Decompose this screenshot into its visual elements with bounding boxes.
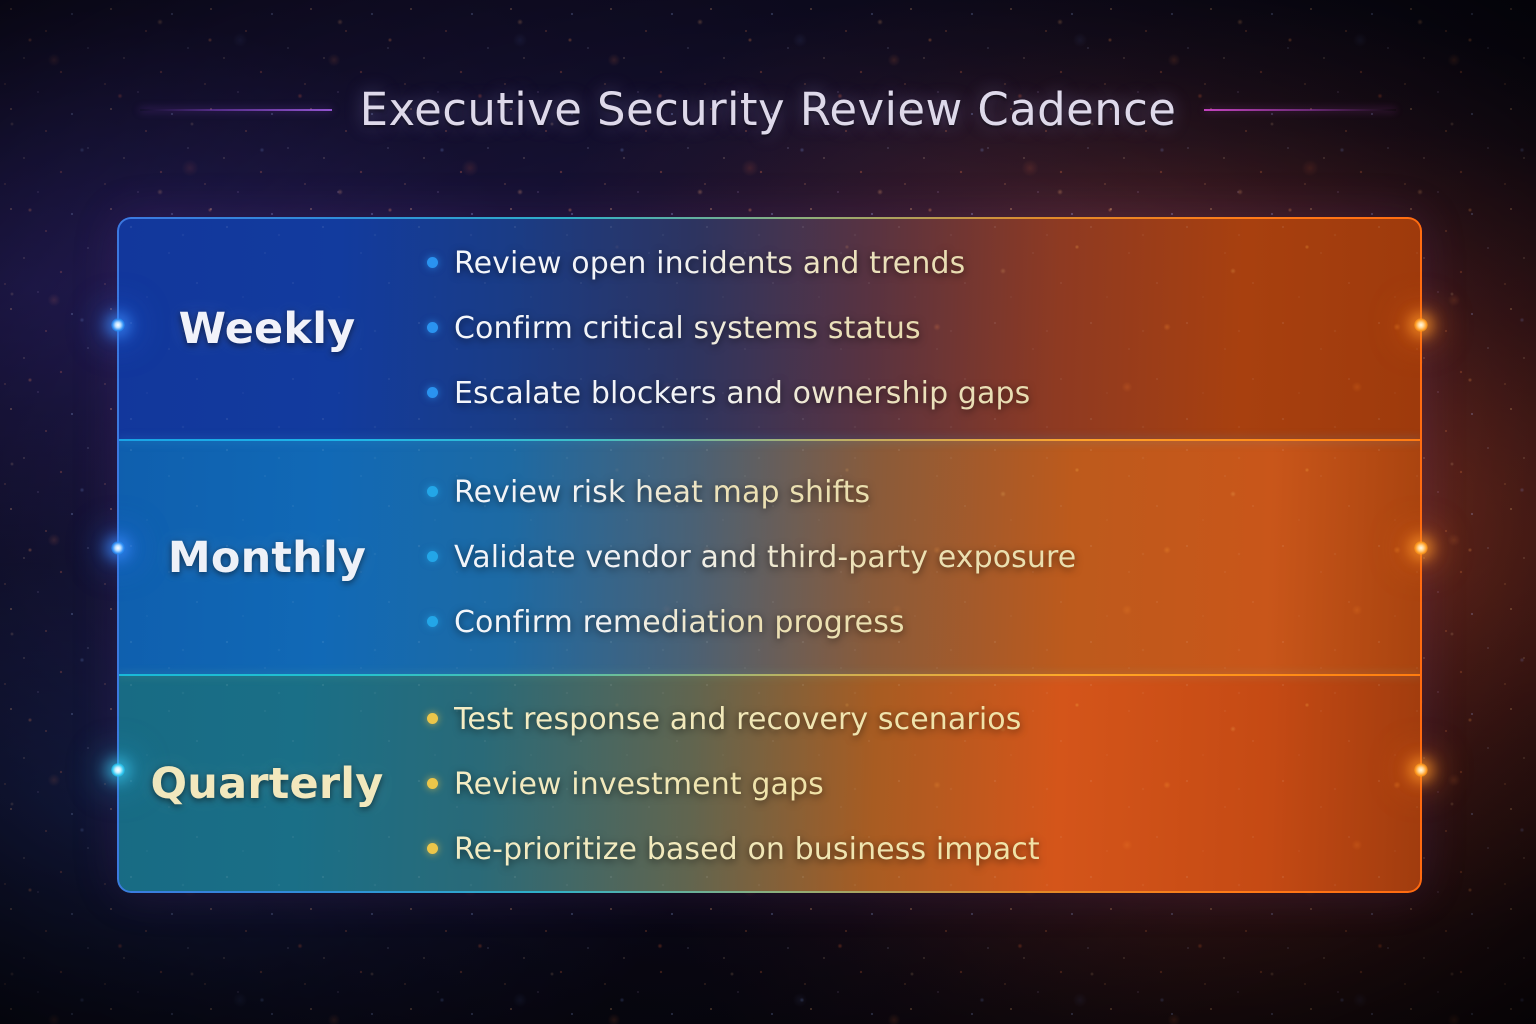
cadence-table-panel: Weekly Review open incidents and trends … [117, 217, 1422, 893]
bullet-text: Review open incidents and trends [454, 246, 965, 281]
glow-node-right-monthly [1414, 541, 1428, 555]
cadence-label-cell: Quarterly [117, 759, 427, 809]
glow-node-left-monthly [111, 541, 125, 555]
bullet-dot-icon [427, 713, 438, 724]
title-bar: Executive Security Review Cadence [0, 76, 1536, 142]
bullet-dot-icon [427, 387, 438, 398]
bullet-list-weekly: Review open incidents and trends Confirm… [427, 246, 1422, 411]
bullet-list-quarterly: Test response and recovery scenarios Rev… [427, 702, 1422, 867]
bullet-dot-icon [427, 778, 438, 789]
list-item[interactable]: Review open incidents and trends [427, 246, 1382, 281]
list-item[interactable]: Escalate blockers and ownership gaps [427, 376, 1382, 411]
page-title: Executive Security Review Cadence [360, 83, 1177, 136]
cadence-label-weekly: Weekly [179, 304, 356, 354]
glow-node-right-quarterly [1414, 763, 1428, 777]
bullet-text: Confirm remediation progress [454, 605, 905, 640]
bullet-dot-icon [427, 322, 438, 333]
list-item[interactable]: Review risk heat map shifts [427, 475, 1382, 510]
list-item[interactable]: Review investment gaps [427, 767, 1382, 802]
glow-node-right-weekly [1414, 318, 1428, 332]
bullet-text: Re-prioritize based on business impact [454, 832, 1040, 867]
cadence-row-weekly[interactable]: Weekly Review open incidents and trends … [117, 217, 1422, 440]
cadence-row-quarterly[interactable]: Quarterly Test response and recovery sce… [117, 675, 1422, 893]
bullet-text: Review investment gaps [454, 767, 824, 802]
glow-node-left-quarterly [111, 763, 125, 777]
bullet-dot-icon [427, 257, 438, 268]
cadence-label-cell: Monthly [117, 533, 427, 583]
bullet-text: Test response and recovery scenarios [454, 702, 1021, 737]
cadence-label-cell: Weekly [117, 304, 427, 354]
slide-canvas: Executive Security Review Cadence Weekly… [0, 0, 1536, 1024]
row-divider-weekly-monthly [117, 439, 1422, 441]
cadence-row-monthly[interactable]: Monthly Review risk heat map shifts Vali… [117, 440, 1422, 675]
title-rule-right [1204, 109, 1396, 111]
bullet-dot-icon [427, 486, 438, 497]
bullet-dot-icon [427, 843, 438, 854]
list-item[interactable]: Confirm remediation progress [427, 605, 1382, 640]
bullet-text: Escalate blockers and ownership gaps [454, 376, 1030, 411]
bullet-dot-icon [427, 616, 438, 627]
cadence-label-quarterly: Quarterly [151, 759, 384, 809]
list-item[interactable]: Re-prioritize based on business impact [427, 832, 1382, 867]
bullet-text: Confirm critical systems status [454, 311, 921, 346]
bullet-text: Validate vendor and third-party exposure [454, 540, 1076, 575]
list-item[interactable]: Validate vendor and third-party exposure [427, 540, 1382, 575]
list-item[interactable]: Confirm critical systems status [427, 311, 1382, 346]
bullet-dot-icon [427, 551, 438, 562]
glow-node-left-weekly [111, 318, 125, 332]
cadence-label-monthly: Monthly [168, 533, 366, 583]
bullet-list-monthly: Review risk heat map shifts Validate ven… [427, 475, 1422, 640]
list-item[interactable]: Test response and recovery scenarios [427, 702, 1382, 737]
row-divider-monthly-quarterly [117, 674, 1422, 676]
title-rule-left [140, 109, 332, 111]
bullet-text: Review risk heat map shifts [454, 475, 870, 510]
